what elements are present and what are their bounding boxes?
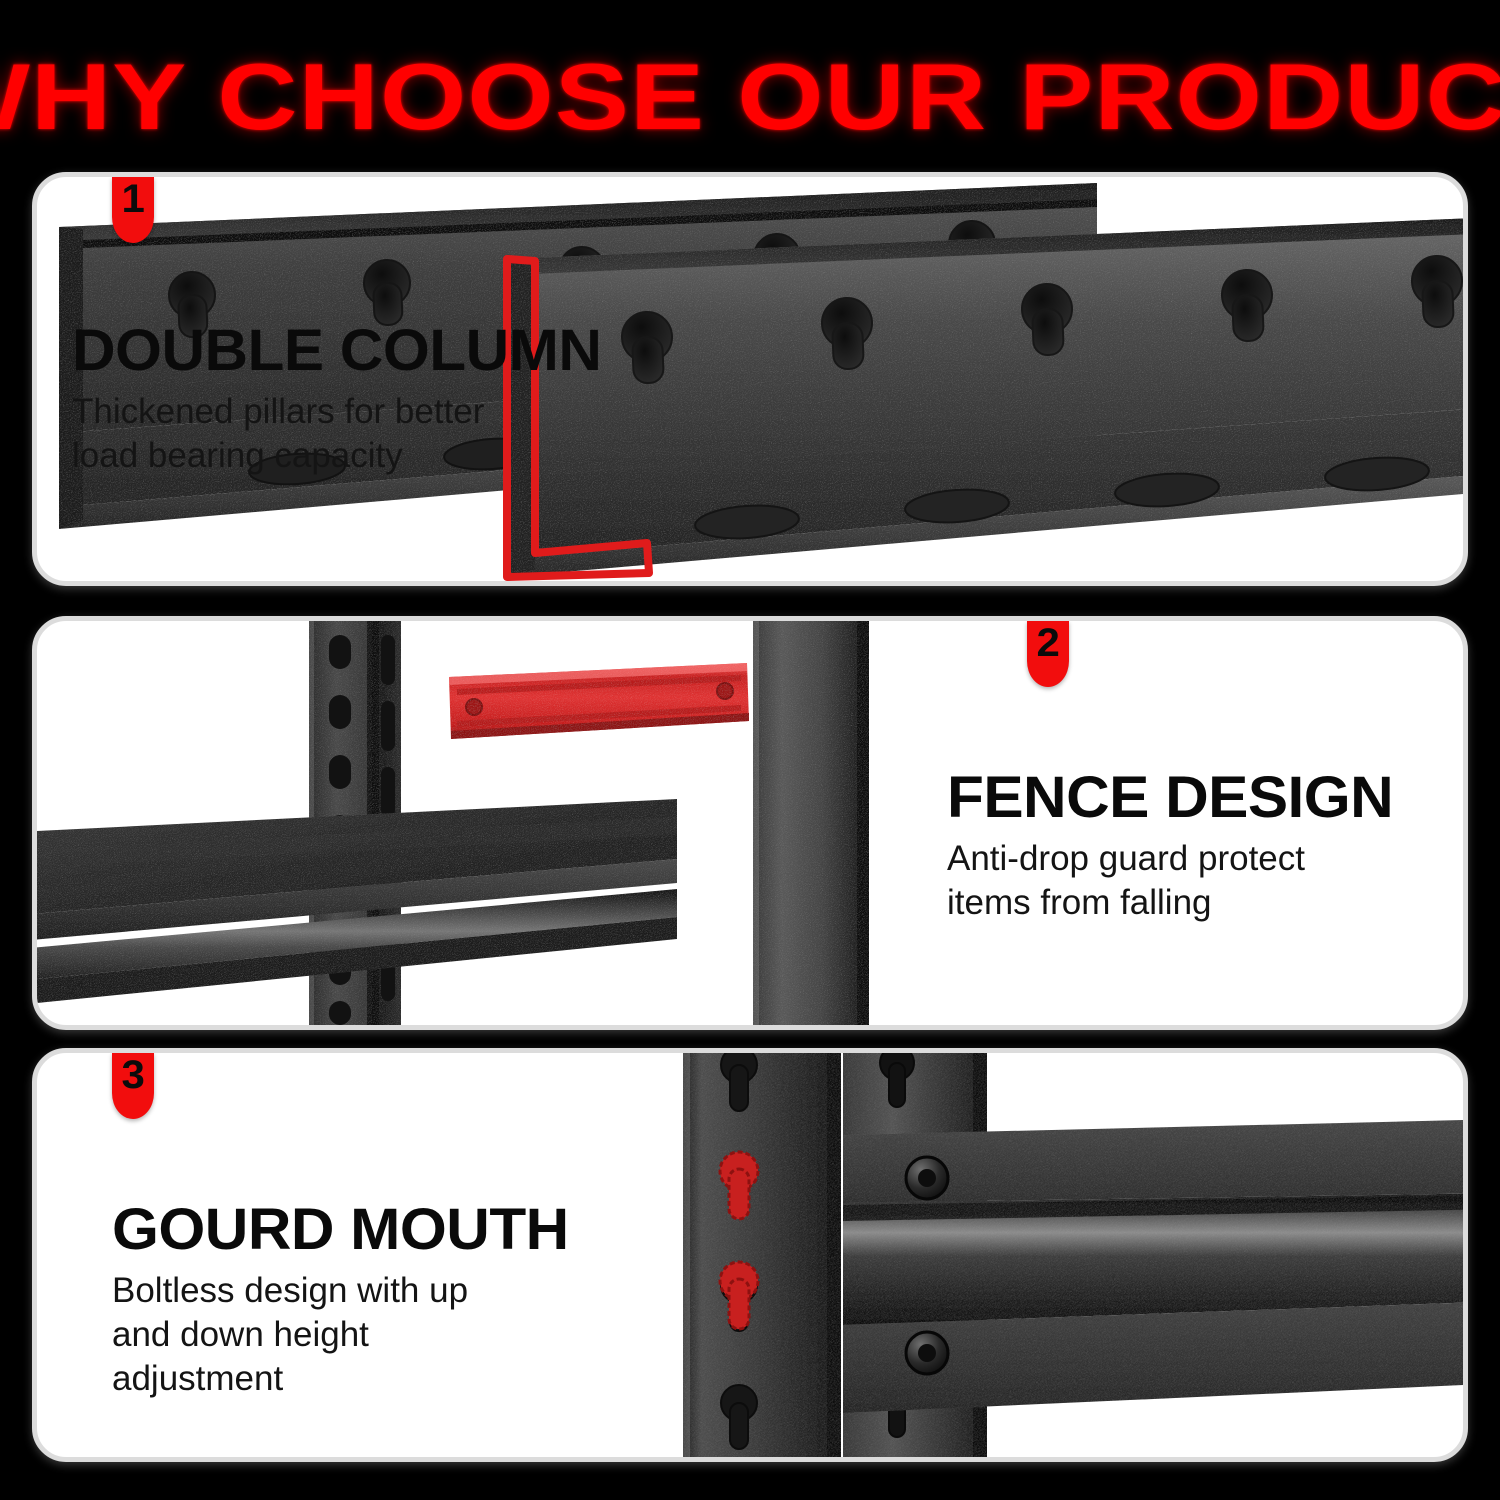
feature-text-1: DOUBLE COLUMN Thickened pillars for bett… (72, 322, 581, 478)
feature-badge-1: 1 (112, 177, 154, 243)
feature-badge-3: 3 (112, 1053, 154, 1119)
feature-card-fence-design: 2 FENCE DESIGN Anti-drop guard protect i… (32, 616, 1468, 1030)
red-guard-rail (449, 663, 749, 739)
feature-text-2: FENCE DESIGN Anti-drop guard protect ite… (947, 769, 1376, 925)
feature-badge-2-number: 2 (1036, 621, 1059, 665)
page-title-text: WHY CHOOSE OUR PRODUCT (0, 50, 1500, 144)
feature-body-2: Anti-drop guard protect items from falli… (947, 837, 1367, 925)
feature-badge-3-number: 3 (121, 1053, 144, 1097)
feature-card-gourd-mouth: 3 GOURD MOUTH Boltless design with up an… (32, 1048, 1468, 1462)
feature-body-1: Thickened pillars for better load bearin… (72, 390, 492, 478)
feature-text-3: GOURD MOUTH Boltless design with up and … (112, 1201, 551, 1401)
feature-card-double-column: 1 DOUBLE COLUMN Thickened pillars for be… (32, 172, 1468, 586)
feature-heading-2: FENCE DESIGN (947, 769, 1393, 827)
feature-body-3: Boltless design with up and down height … (112, 1269, 532, 1401)
feature-badge-2: 2 (1027, 621, 1069, 687)
feature-heading-3: GOURD MOUTH (112, 1201, 569, 1259)
feature-heading-1: DOUBLE COLUMN (72, 322, 601, 380)
feature-badge-1-number: 1 (121, 177, 144, 221)
page-title: WHY CHOOSE OUR PRODUCT (0, 42, 1500, 152)
